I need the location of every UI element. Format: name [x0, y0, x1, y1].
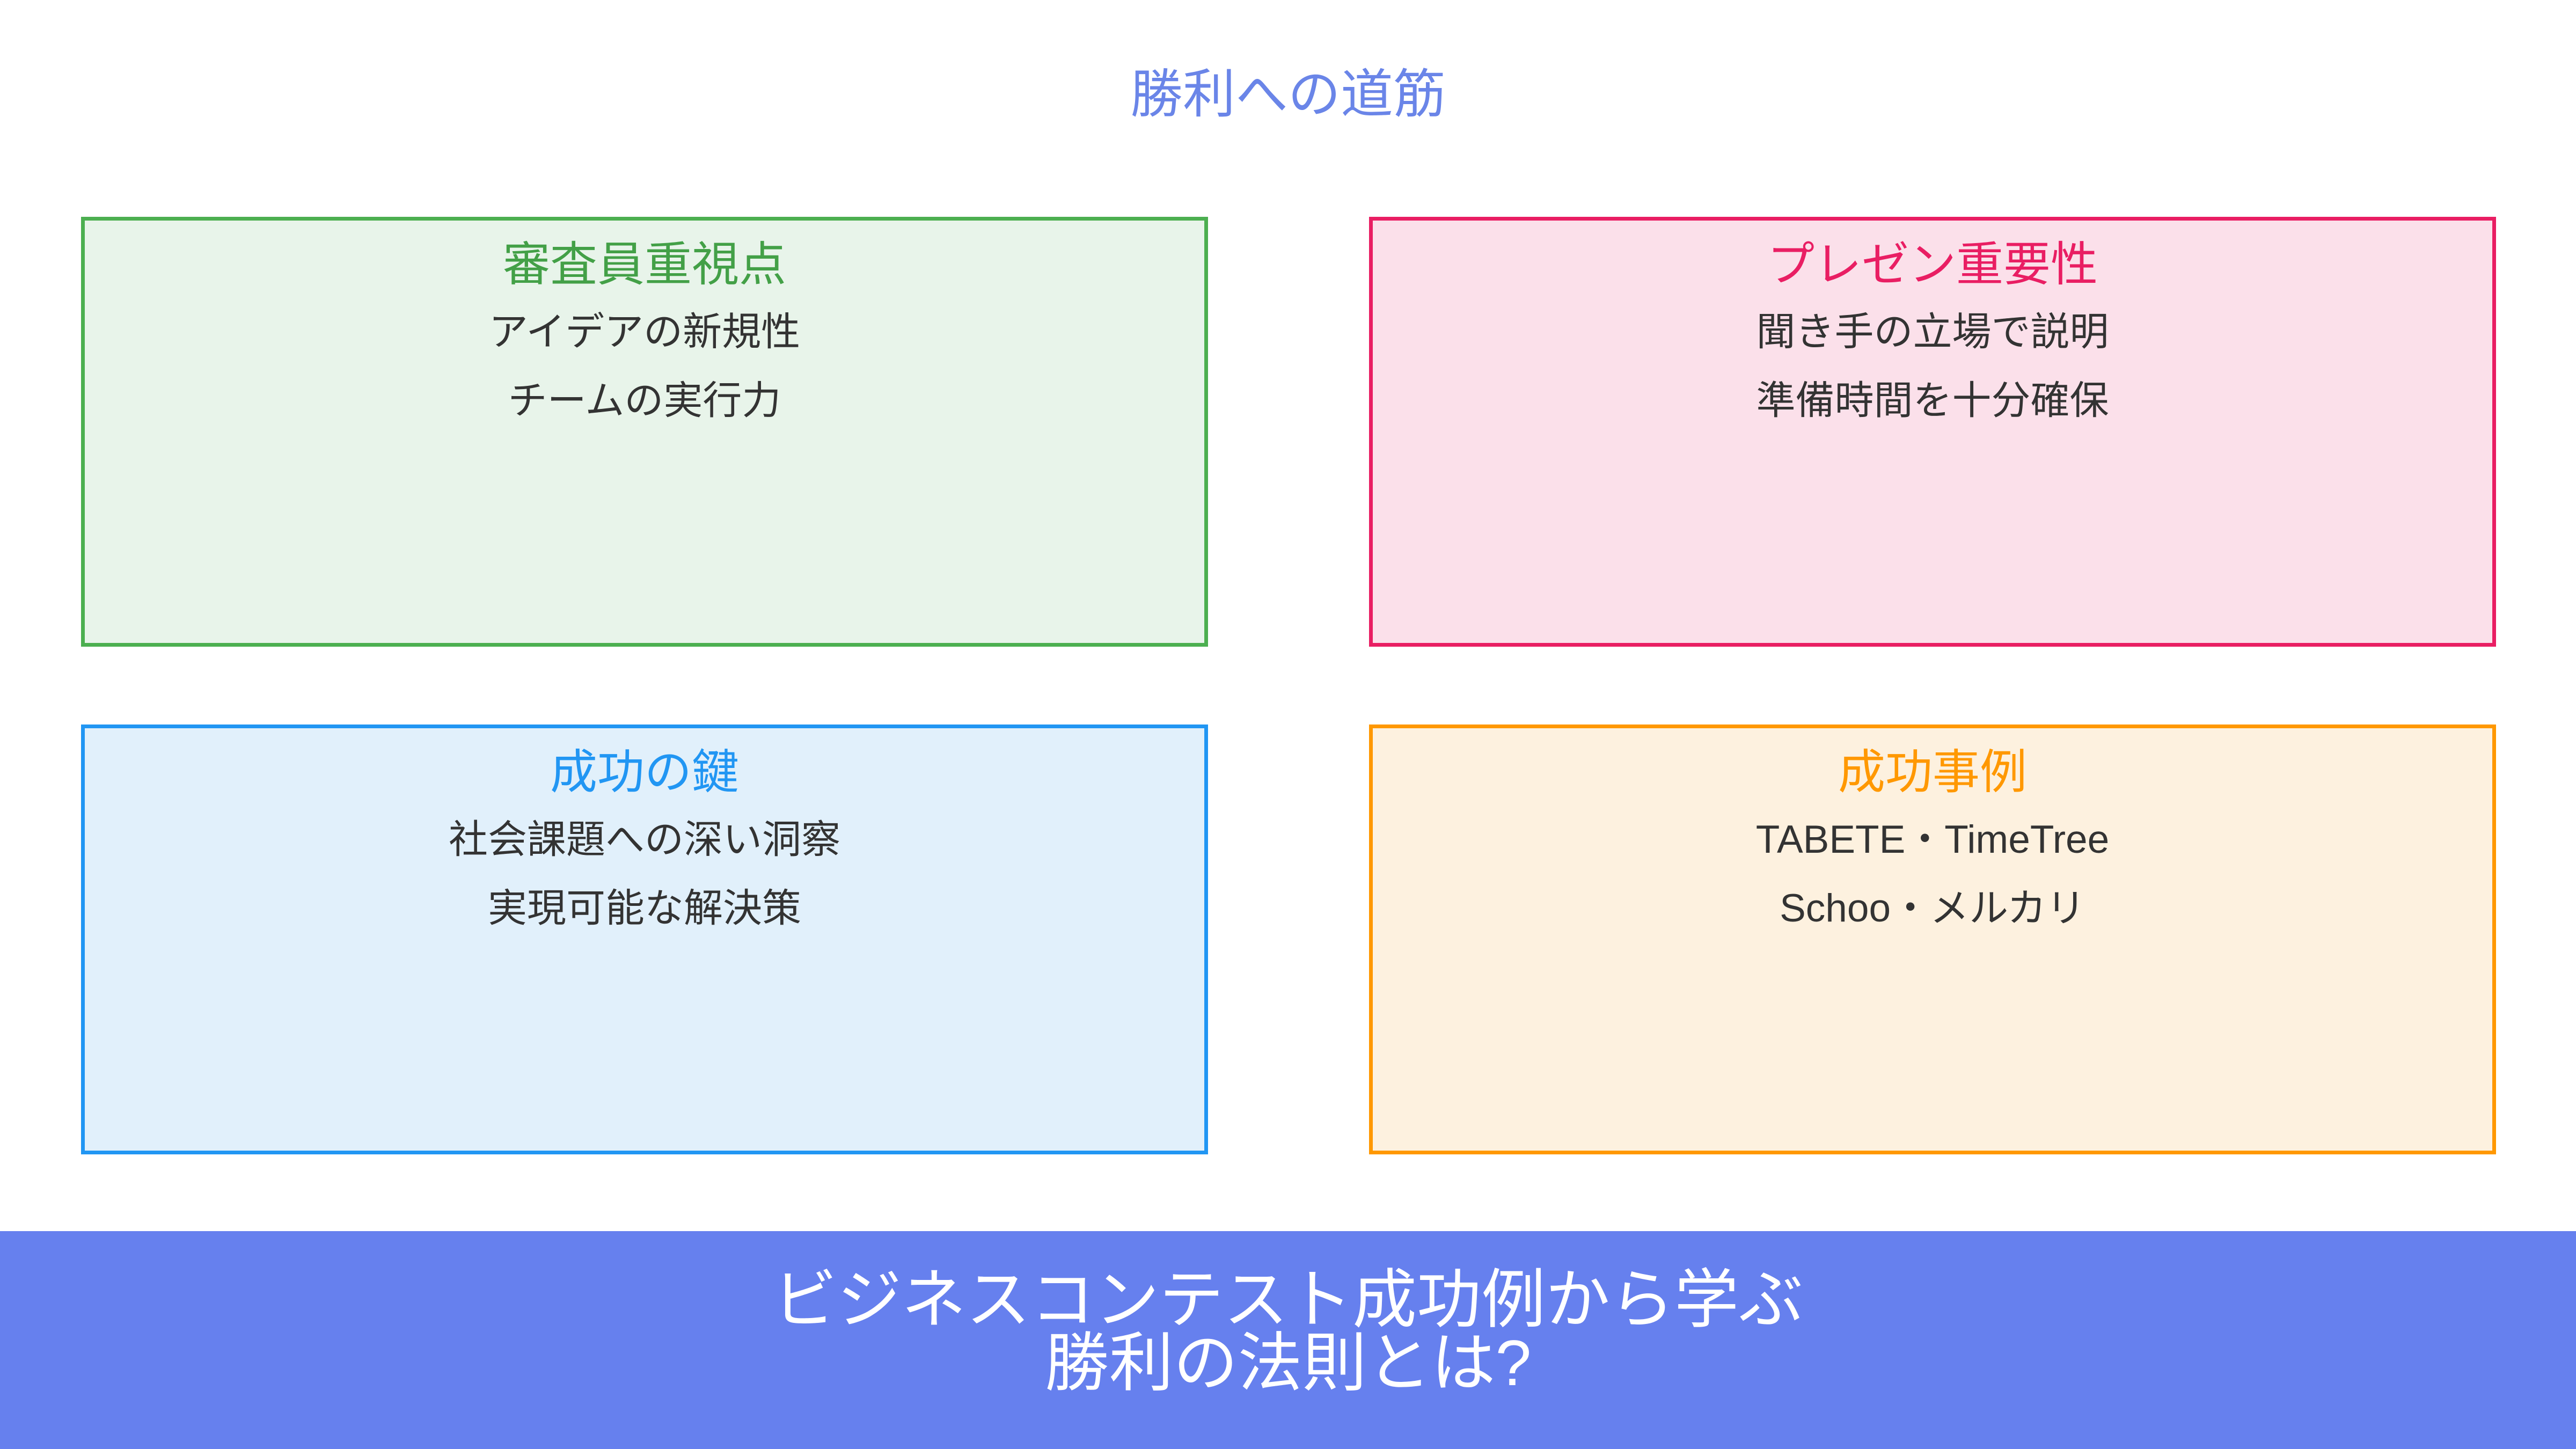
- card-judges-focus: 審査員重視点 アイデアの新規性 チームの実行力: [81, 217, 1208, 647]
- card-body: アイデアの新規性 チームの実行力: [85, 298, 1204, 435]
- card-body: 聞き手の立場で説明 準備時間を十分確保: [1373, 298, 2492, 435]
- card-body-line: 準備時間を十分確保: [1373, 367, 2492, 435]
- card-title: 審査員重視点: [85, 235, 1204, 295]
- card-title: プレゼン重要性: [1373, 235, 2492, 295]
- card-title: 成功の鍵: [85, 742, 1204, 802]
- card-body-line: TABETE・TimeTree: [1373, 806, 2492, 874]
- card-presentation-importance: プレゼン重要性 聞き手の立場で説明 準備時間を十分確保: [1369, 217, 2496, 647]
- card-keys-to-success: 成功の鍵 社会課題への深い洞察 実現可能な解決策: [81, 724, 1208, 1154]
- card-success-cases: 成功事例 TABETE・TimeTree Schoo・メルカリ: [1369, 724, 2496, 1154]
- banner-headline-line-1: ビジネスコンテスト成功例から学ぶ: [0, 1268, 2576, 1332]
- bottom-banner: ビジネスコンテスト成功例から学ぶ 勝利の法則とは?: [0, 1231, 2576, 1449]
- card-body-line: アイデアの新規性: [85, 298, 1204, 367]
- card-grid: 審査員重視点 アイデアの新規性 チームの実行力 プレゼン重要性 聞き手の立場で説…: [81, 217, 2495, 1154]
- card-body-line: 実現可能な解決策: [85, 874, 1204, 943]
- page-title: 勝利への道筋: [0, 64, 2576, 123]
- card-body: 社会課題への深い洞察 実現可能な解決策: [85, 806, 1204, 943]
- card-body-line: 社会課題への深い洞察: [85, 806, 1204, 874]
- card-title: 成功事例: [1373, 742, 2492, 802]
- card-body-line: 聞き手の立場で説明: [1373, 298, 2492, 367]
- card-body: TABETE・TimeTree Schoo・メルカリ: [1373, 806, 2492, 943]
- banner-headline-line-2: 勝利の法則とは?: [0, 1331, 2576, 1395]
- card-body-line: チームの実行力: [85, 367, 1204, 435]
- card-body-line: Schoo・メルカリ: [1373, 874, 2492, 943]
